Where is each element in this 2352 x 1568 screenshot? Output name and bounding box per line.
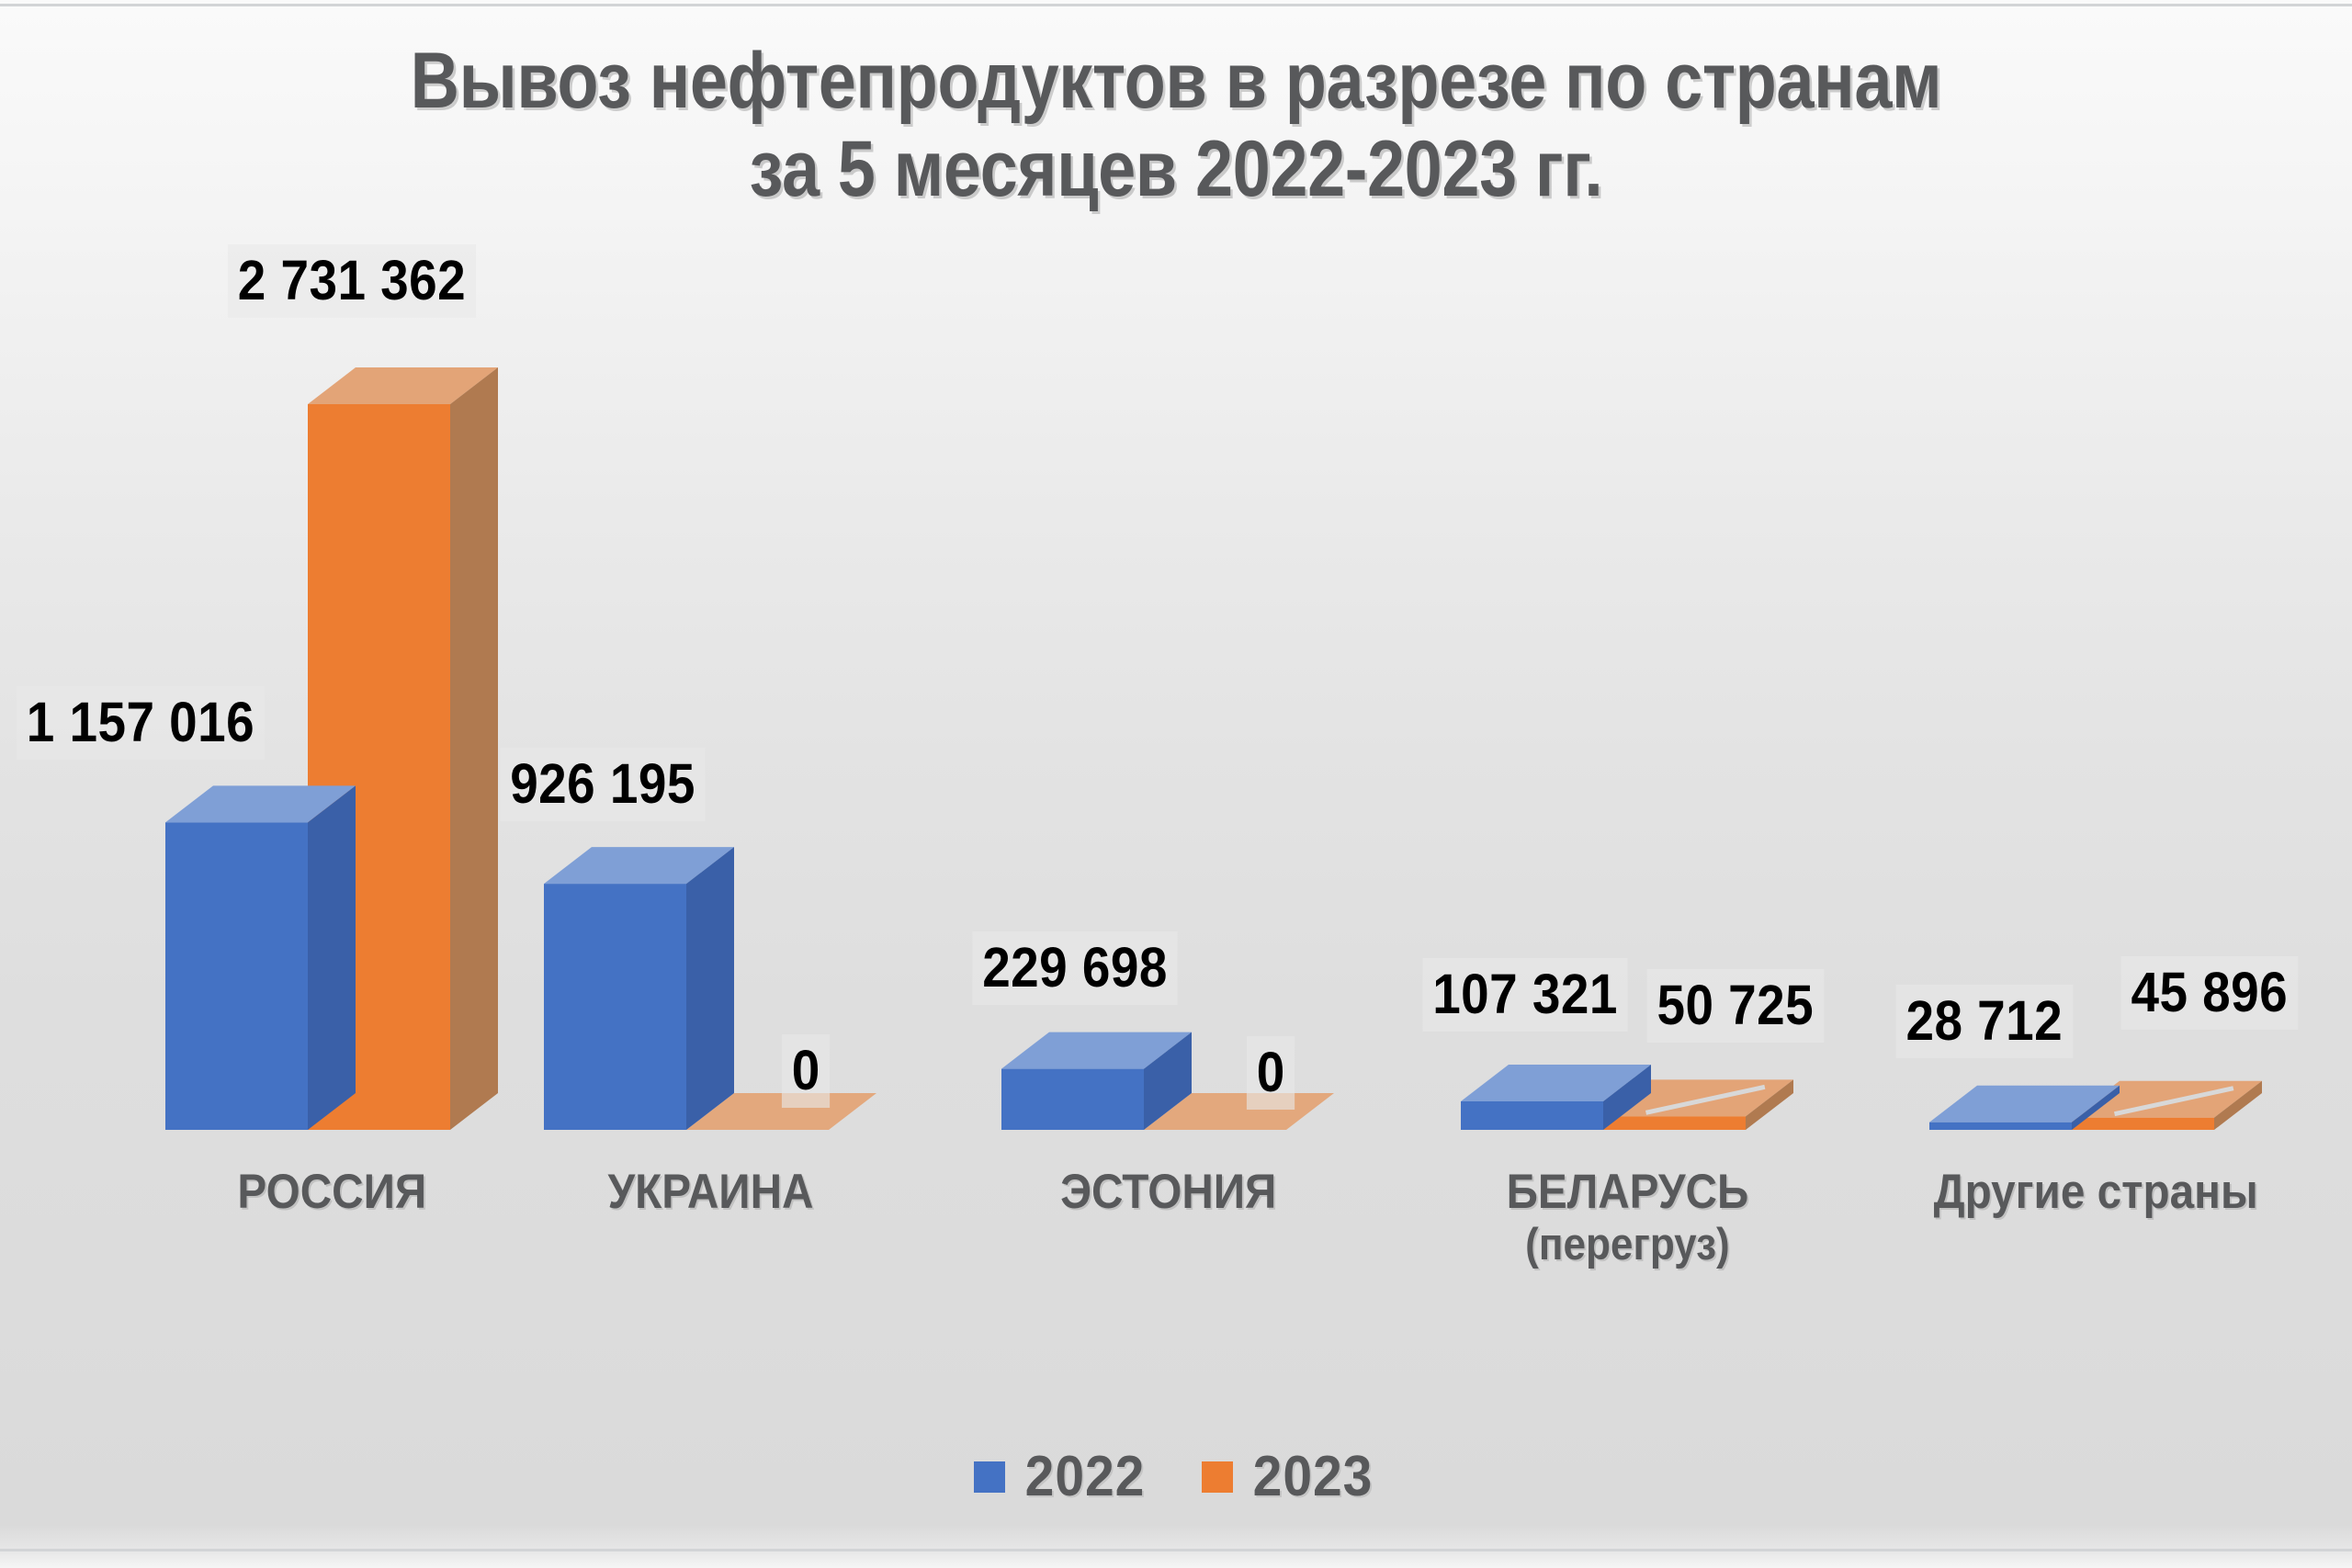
value-label-2023-3: 50 725: [1647, 969, 1824, 1043]
bar-2022-4-front-face: [1929, 1122, 2072, 1130]
legend-swatch-2023: [1202, 1461, 1233, 1493]
bar-2022-0: [165, 785, 356, 1130]
bar-2022-1-front-face: [544, 884, 686, 1130]
category-label-text-3: БЕЛАРУСЬ: [1507, 1165, 1749, 1219]
legend-label-2023: 2023: [1253, 1444, 1374, 1509]
legend-label-2022: 2022: [1025, 1444, 1146, 1509]
bottom-divider: [0, 1549, 2352, 1551]
category-label-text-4: Другие страны: [1934, 1165, 2258, 1219]
value-label-2023-1: 0: [782, 1034, 831, 1108]
chart-title-line-1: Вывоз нефтепродуктов в разрезе по страна…: [164, 37, 2188, 125]
value-label-2022-2: 229 698: [972, 931, 1177, 1005]
value-label-2022-3: 107 321: [1422, 958, 1627, 1032]
category-label-4: Другие страны: [1934, 1165, 2258, 1220]
category-label-0: РОССИЯ: [237, 1165, 426, 1220]
legend-swatch-2022: [974, 1461, 1005, 1493]
chart-category-labels: РОССИЯУКРАИНАЭСТОНИЯБЕЛАРУСЬ(перегруз)Др…: [0, 1165, 2352, 1339]
chart-title: Вывоз нефтепродуктов в разрезе по страна…: [0, 37, 2352, 214]
value-label-2023-4: 45 896: [2121, 956, 2298, 1030]
category-label-text-0: РОССИЯ: [237, 1165, 426, 1219]
chart-title-line-2: за 5 месяцев 2022-2023 гг.: [164, 125, 2188, 213]
value-label-2022-4: 28 712: [1896, 985, 2073, 1058]
category-label-subtext-3: (перегруз): [1507, 1220, 1749, 1271]
top-divider: [0, 4, 2352, 6]
value-label-2023-2: 0: [1247, 1036, 1295, 1110]
chart-legend: 20222023: [0, 1444, 2352, 1509]
legend-item-2022[interactable]: 2022: [974, 1444, 1150, 1509]
bar-2023-3-front-face: [1603, 1116, 1746, 1130]
category-label-2: ЭСТОНИЯ: [1060, 1165, 1276, 1220]
chart-plot-area: 1 157 0162 731 362926 1950229 6980107 32…: [0, 276, 2352, 1222]
value-label-2023-0: 2 731 362: [228, 244, 476, 318]
chart-slide: Вывоз нефтепродуктов в разрезе по страна…: [0, 0, 2352, 1568]
value-label-2022-1: 926 195: [500, 748, 705, 821]
bar-2023-4-front-face: [2072, 1118, 2214, 1130]
bar-2022-3-front-face: [1461, 1101, 1603, 1130]
chart-bars-svg: [0, 276, 2352, 1222]
bar-2023-0-side-face: [450, 367, 498, 1130]
category-label-3: БЕЛАРУСЬ(перегруз): [1507, 1165, 1749, 1271]
bar-2022-0-front-face: [165, 822, 308, 1130]
category-label-text-2: ЭСТОНИЯ: [1060, 1165, 1276, 1219]
bar-2022-0-side-face: [308, 785, 356, 1130]
bar-2022-2-front-face: [1001, 1069, 1144, 1130]
bar-2022-1-side-face: [686, 847, 734, 1130]
category-label-1: УКРАИНА: [607, 1165, 813, 1220]
category-label-text-1: УКРАИНА: [607, 1165, 813, 1219]
bar-2022-1: [544, 847, 734, 1130]
legend-item-2023[interactable]: 2023: [1202, 1444, 1378, 1509]
value-label-2022-0: 1 157 016: [17, 686, 265, 760]
